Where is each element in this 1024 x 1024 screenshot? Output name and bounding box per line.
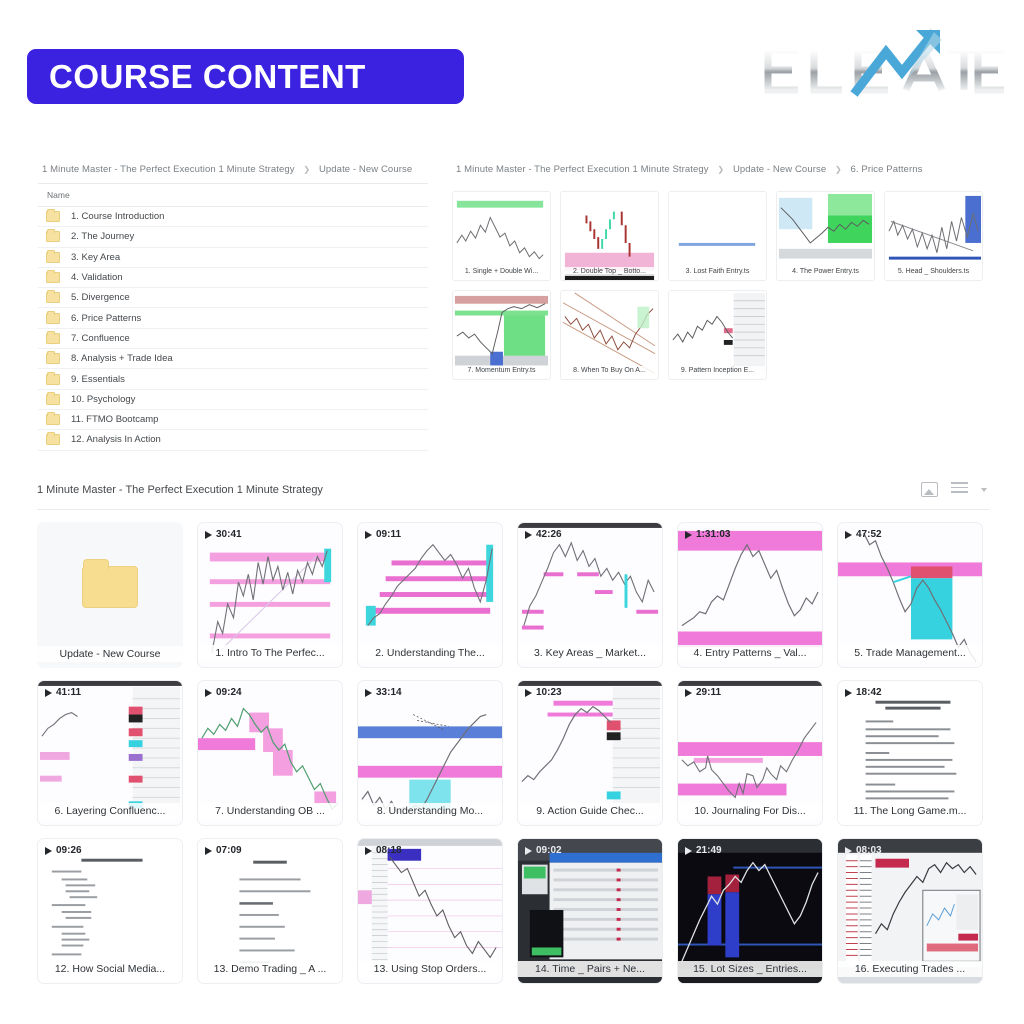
duration-text: 33:14 [376,687,402,698]
duration-text: 10:23 [536,687,562,698]
folder-icon [46,292,60,303]
play-icon [685,531,692,539]
play-icon [365,689,372,697]
duration-text: 41:11 [56,687,81,698]
play-icon [365,847,372,855]
thumbnail-label: 3. Lost Faith Entry.ts [669,267,766,276]
duration-badge: 33:14 [365,687,402,698]
chevron-right-icon: ❯ [711,165,730,174]
breadcrumb-left[interactable]: 1 Minute Master - The Perfect Execution … [38,162,428,183]
file-list: 1. Course Introduction 2. The Journey 3.… [38,207,428,451]
thumbnail-label: 9. Pattern Inception E... [669,366,766,375]
column-header-name: Name [38,183,428,207]
duration-badge: 09:02 [525,845,562,856]
duration-text: 29:11 [696,687,721,698]
duration-text: 09:26 [56,845,82,856]
duration-badge: 10:23 [525,687,562,698]
list-item[interactable]: 5. Divergence [38,288,428,308]
duration-badge: 18:42 [845,687,882,698]
list-item-label: 2. The Journey [71,231,134,242]
card-label: 7. Understanding OB ... [198,803,342,819]
card-label: 14. Time _ Pairs + Ne... [518,961,662,977]
list-item-label: 8. Analysis + Trade Idea [71,353,173,364]
folder-icon [82,566,138,608]
thumbnail-item[interactable]: 1. Single + Double Wi... [452,191,551,281]
page-title-badge: COURSE CONTENT [27,49,464,104]
folder-icon [46,353,60,364]
duration-badge: 21:49 [685,845,722,856]
duration-text: 08:03 [856,845,882,856]
card-label: Update - New Course [37,646,183,662]
play-icon [45,689,52,697]
breadcrumb-item-root[interactable]: 1 Minute Master - The Perfect Execution … [42,164,295,175]
play-icon [845,689,852,697]
card-video[interactable]: 42:26 3. Key Areas _ Market... [517,522,663,668]
elevate-logo [756,28,1006,110]
folder-icon [46,313,60,324]
folder-icon [46,414,60,425]
card-label: 10. Journaling For Dis... [678,803,822,819]
list-item[interactable]: 4. Validation [38,268,428,288]
breadcrumb-item-current[interactable]: Update - New Course [319,164,412,175]
list-item-label: 7. Confluence [71,333,130,344]
card-label: 13. Using Stop Orders... [358,961,502,977]
duration-text: 08:18 [376,845,402,856]
thumbnail-label: 4. The Power Entry.ts [777,267,874,276]
thumbnail-label: 2. Double Top _ Botto... [561,267,658,276]
card-label: 3. Key Areas _ Market... [518,645,662,661]
list-item[interactable]: 2. The Journey [38,227,428,247]
folder-icon [46,374,60,385]
list-item[interactable]: 11. FTMO Bootcamp [38,410,428,430]
card-video[interactable]: 08:03 16. Executing Trades ... [837,838,983,984]
duration-badge: 41:11 [45,687,81,698]
main-section-title: 1 Minute Master - The Perfect Execution … [37,484,989,496]
list-item-label: 5. Divergence [71,292,130,303]
page-header: COURSE CONTENT [0,0,1024,140]
course-card-grid: Update - New Course 30:41 1. Intro To Th… [37,522,989,984]
list-view-icon[interactable] [951,482,968,497]
card-document[interactable]: 07:09 13. Demo Trading _ A ... [197,838,343,984]
play-icon [525,531,532,539]
card-video[interactable]: 08:18 13. Using Stop Orders... [357,838,503,984]
card-video[interactable]: 09:24 7. Understanding OB ... [197,680,343,826]
duration-text: 47:52 [856,529,882,540]
list-item[interactable]: 9. Essentials [38,369,428,389]
list-item[interactable]: 12. Analysis In Action [38,430,428,450]
thumbnail-item[interactable]: 4. The Power Entry.ts [776,191,875,281]
view-toolbar [921,482,987,497]
card-label: 9. Action Guide Chec... [518,803,662,819]
list-item-label: 4. Validation [71,272,123,283]
card-video[interactable]: 33:14 8. Understanding Mo... [357,680,503,826]
list-item-label: 12. Analysis In Action [71,434,161,445]
explorer-left-panel: 1 Minute Master - The Perfect Execution … [38,162,428,462]
duration-badge: 08:03 [845,845,882,856]
duration-text: 42:26 [536,529,562,540]
play-icon [685,847,692,855]
duration-badge: 1:31:03 [685,529,730,540]
card-video[interactable]: 21:49 15. Lot Sizes _ Entries... [677,838,823,984]
duration-badge: 29:11 [685,687,721,698]
folder-icon [46,333,60,344]
thumbnail-label: 7. Momentum Entry.ts [453,366,550,375]
duration-text: 1:31:03 [696,529,730,540]
card-label: 12. How Social Media... [38,961,182,977]
breadcrumb-item-parent[interactable]: Update - New Course [733,164,826,175]
chevron-down-icon[interactable] [981,488,987,492]
list-item[interactable]: 6. Price Patterns [38,308,428,328]
card-folder[interactable]: Update - New Course [37,522,183,668]
card-label: 4. Entry Patterns _ Val... [678,645,822,661]
thumbnail-item[interactable]: 5. Head _ Shoulders.ts [884,191,983,281]
play-icon [685,689,692,697]
list-item-label: 3. Key Area [71,252,120,263]
thumbnail-label: 1. Single + Double Wi... [453,267,550,276]
card-video[interactable]: 30:41 1. Intro To The Perfec... [197,522,343,668]
folder-icon [46,211,60,222]
play-icon [365,531,372,539]
list-item-label: 10. Psychology [71,394,135,405]
card-label: 5. Trade Management... [838,645,982,661]
duration-badge: 09:24 [205,687,242,698]
card-video[interactable]: 1:31:03 4. Entry Patterns _ Val... [677,522,823,668]
duration-badge: 42:26 [525,529,562,540]
breadcrumb-item-current[interactable]: 6. Price Patterns [851,164,923,175]
thumbnail-label: 5. Head _ Shoulders.ts [885,267,982,276]
card-label: 2. Understanding The... [358,645,502,661]
card-label: 16. Executing Trades ... [838,961,982,977]
play-icon [525,689,532,697]
thumbnail-label: 8. When To Buy On A... [561,366,658,375]
thumbnail-grid: 1. Single + Double Wi... 2. Double Top _… [452,191,997,380]
duration-text: 21:49 [696,845,722,856]
list-item[interactable]: 1. Course Introduction [38,207,428,227]
explorer-right-panel: 1 Minute Master - The Perfect Execution … [452,162,997,412]
duration-text: 09:24 [216,687,242,698]
card-document[interactable]: 09:26 12. How Social Media... [37,838,183,984]
chevron-right-icon: ❯ [297,165,316,174]
card-video[interactable]: 47:52 5. Trade Management... [837,522,983,668]
list-item[interactable]: 3. Key Area [38,248,428,268]
breadcrumb-right[interactable]: 1 Minute Master - The Perfect Execution … [452,162,997,183]
list-item-label: 9. Essentials [71,374,125,385]
card-label: 1. Intro To The Perfec... [198,645,342,661]
duration-text: 09:11 [376,529,401,540]
thumbnail-item[interactable]: 7. Momentum Entry.ts [452,290,551,380]
card-video[interactable]: 09:11 2. Understanding The... [357,522,503,668]
page-title: COURSE CONTENT [49,58,366,96]
image-icon[interactable] [921,482,938,497]
folder-icon [46,272,60,283]
thumbnail-item[interactable]: 3. Lost Faith Entry.ts [668,191,767,281]
chevron-right-icon: ❯ [829,165,848,174]
thumbnail-item[interactable]: 2. Double Top _ Botto... [560,191,659,281]
card-label: 8. Understanding Mo... [358,803,502,819]
card-label: 15. Lot Sizes _ Entries... [678,961,822,977]
card-label: 6. Layering Confluenc... [38,803,182,819]
folder-icon [46,394,60,405]
list-item[interactable]: 7. Confluence [38,329,428,349]
play-icon [205,689,212,697]
breadcrumb-item-root[interactable]: 1 Minute Master - The Perfect Execution … [456,164,709,175]
thumbnail-item[interactable]: 8. When To Buy On A... [560,290,659,380]
folder-icon [46,434,60,445]
card-video[interactable]: 10:23 9. Action Guide Chec... [517,680,663,826]
duration-badge: 07:09 [205,845,242,856]
list-item[interactable]: 10. Psychology [38,390,428,410]
duration-text: 09:02 [536,845,562,856]
list-item-label: 1. Course Introduction [71,211,164,222]
duration-badge: 30:41 [205,529,242,540]
duration-text: 18:42 [856,687,882,698]
play-icon [845,847,852,855]
card-video[interactable]: 41:11 6. Layering Confluenc... [37,680,183,826]
play-icon [205,531,212,539]
play-icon [525,847,532,855]
duration-badge: 09:26 [45,845,82,856]
list-item-label: 11. FTMO Bootcamp [71,414,158,425]
play-icon [205,847,212,855]
card-label: 13. Demo Trading _ A ... [198,961,342,977]
duration-badge: 08:18 [365,845,402,856]
folder-icon [46,252,60,263]
duration-badge: 47:52 [845,529,882,540]
duration-badge: 09:11 [365,529,401,540]
duration-text: 30:41 [216,529,242,540]
duration-text: 07:09 [216,845,242,856]
main-section-header: 1 Minute Master - The Perfect Execution … [37,484,989,510]
list-item-label: 6. Price Patterns [71,313,141,324]
list-item[interactable]: 8. Analysis + Trade Idea [38,349,428,369]
thumbnail-item[interactable]: 9. Pattern Inception E... [668,290,767,380]
card-document[interactable]: 18:42 11. The Long Game.m... [837,680,983,826]
card-video[interactable]: 09:02 14. Time _ Pairs + Ne... [517,838,663,984]
card-label: 11. The Long Game.m... [838,803,982,819]
card-video[interactable]: 29:11 10. Journaling For Dis... [677,680,823,826]
play-icon [45,847,52,855]
play-icon [845,531,852,539]
folder-icon [46,231,60,242]
